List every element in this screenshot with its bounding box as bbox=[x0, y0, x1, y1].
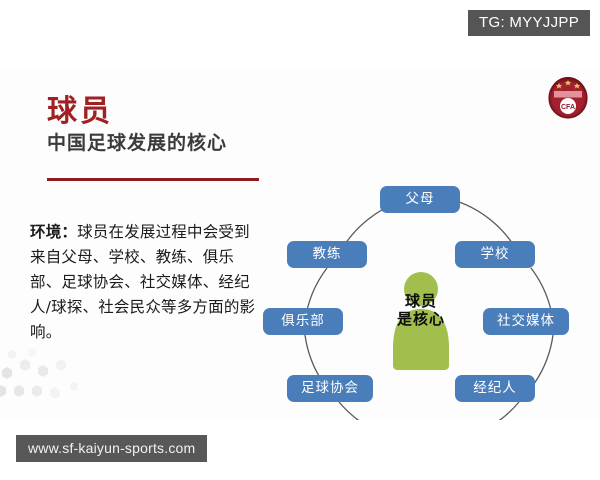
node-coach[interactable]: 教练 bbox=[287, 241, 367, 268]
center-label-line1: 球员 bbox=[384, 293, 458, 311]
center-label-line2: 是核心 bbox=[384, 311, 458, 329]
site-url-watermark: www.sf-kaiyun-sports.com bbox=[16, 435, 207, 462]
node-club[interactable]: 俱乐部 bbox=[263, 308, 343, 335]
influence-circle-diagram: 球员 是核心 父母 学校 社交媒体 经纪人 社会民众 足球协会 俱乐部 教练 bbox=[258, 68, 600, 420]
body-paragraph: 环境：球员在发展过程中会受到来自父母、学校、教练、俱乐部、足球协会、社交媒体、经… bbox=[30, 220, 262, 346]
node-parents[interactable]: 父母 bbox=[380, 186, 460, 213]
node-school[interactable]: 学校 bbox=[455, 241, 535, 268]
node-association[interactable]: 足球协会 bbox=[287, 375, 373, 402]
telegram-watermark: TG: MYYJJPP bbox=[468, 10, 590, 36]
node-agent[interactable]: 经纪人 bbox=[455, 375, 535, 402]
body-label: 环境： bbox=[30, 223, 77, 241]
page-subtitle: 中国足球发展的核心 bbox=[47, 133, 277, 154]
node-social-media[interactable]: 社交媒体 bbox=[483, 308, 569, 335]
center-label: 球员 是核心 bbox=[384, 293, 458, 328]
hexagon-dots-decoration bbox=[0, 348, 114, 412]
slide-canvas: CFA 球员 中国足球发展的核心 环境：球员在发展过程中会受到来自父母、学校、教… bbox=[0, 68, 600, 420]
title-block: 球员 中国足球发展的核心 bbox=[47, 96, 277, 153]
title-divider bbox=[47, 178, 259, 181]
page-title: 球员 bbox=[47, 96, 277, 128]
